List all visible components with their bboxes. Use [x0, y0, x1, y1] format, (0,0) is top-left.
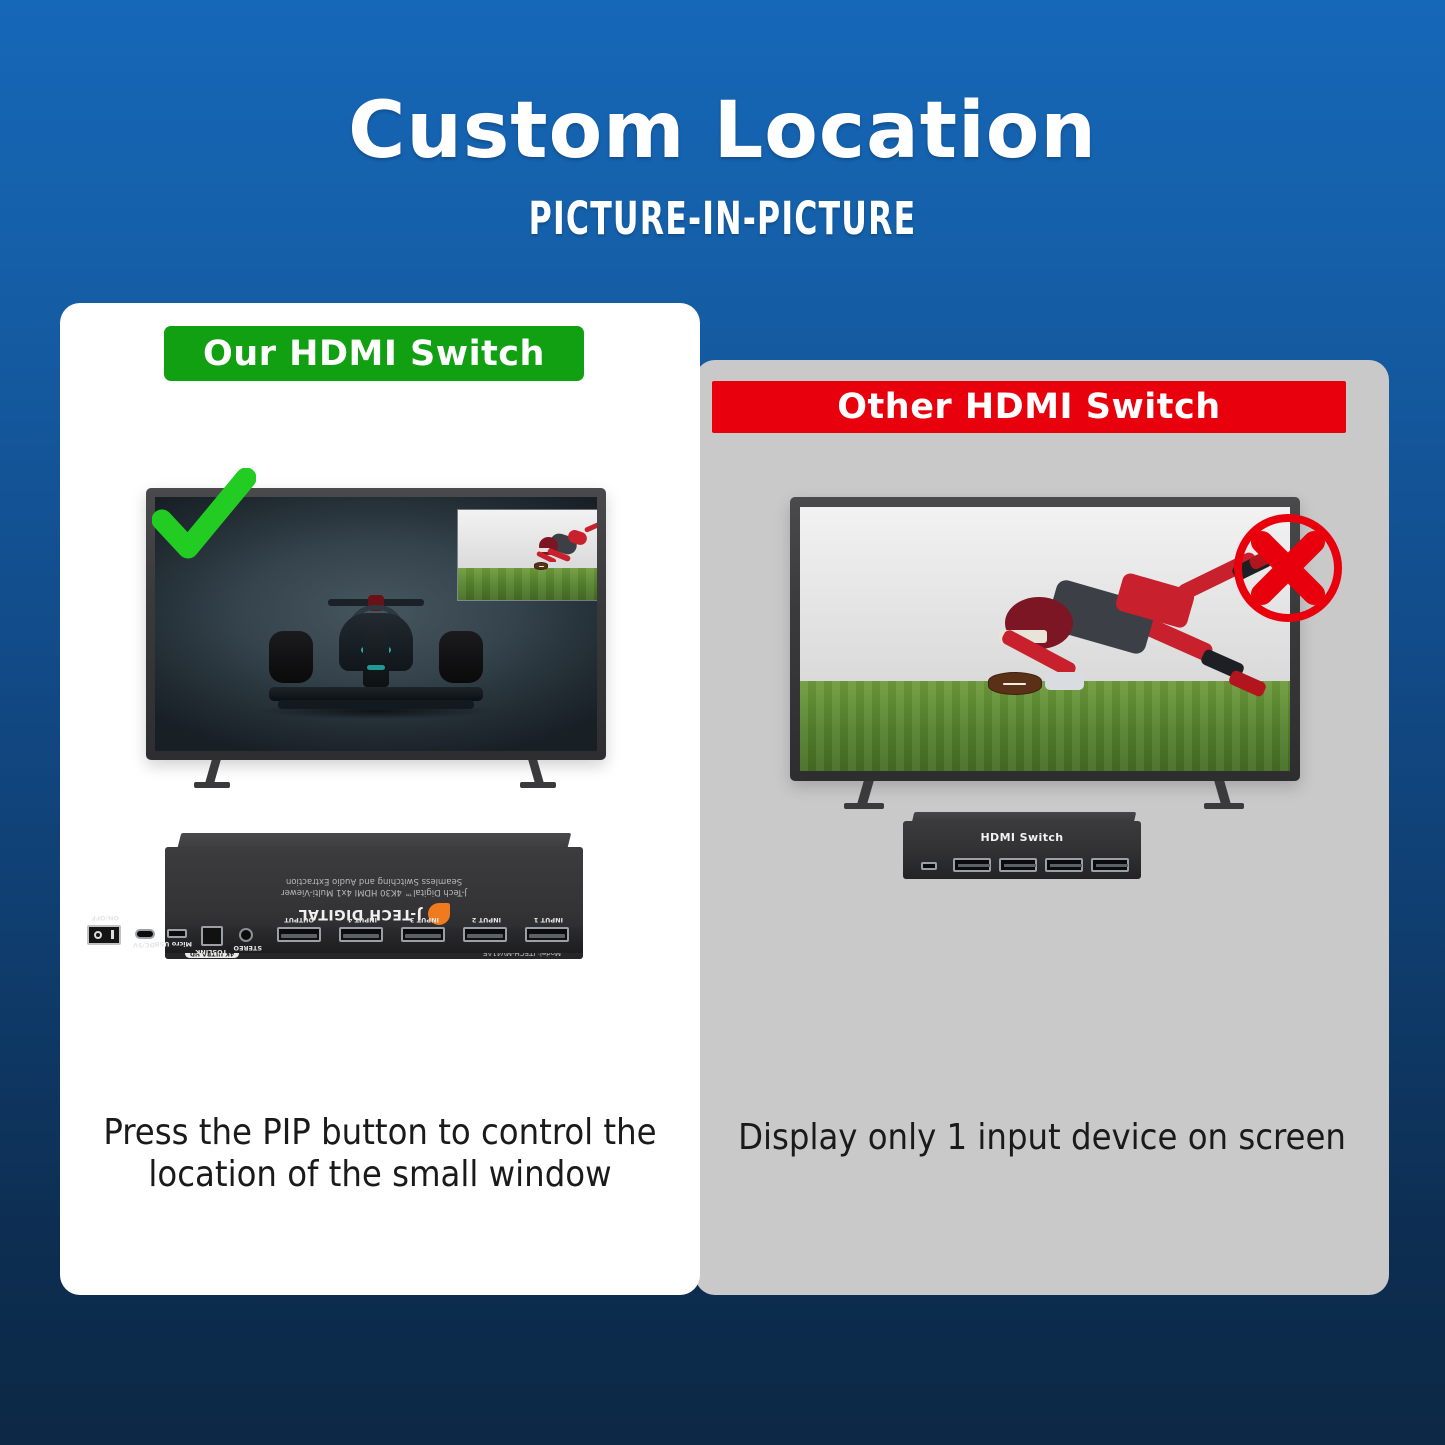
power-switch[interactable] [87, 925, 121, 945]
port-label-dc-5v: DC/5V [133, 941, 155, 949]
badge-other-hdmi-switch: Other HDMI Switch [712, 381, 1346, 433]
caption-ours: Press the PIP button to control the loca… [70, 1112, 690, 1197]
scene-football [458, 510, 597, 600]
port-input-4[interactable] [339, 927, 383, 942]
port-label-micro-usb: Micro USB [155, 940, 192, 948]
port-stereo[interactable] [239, 928, 253, 942]
football-player-icon [526, 521, 597, 580]
port-dc-5v[interactable] [135, 929, 155, 939]
port-hdmi-2[interactable] [999, 858, 1037, 872]
tv-screen-other [800, 507, 1290, 771]
page-header: Custom Location PICTURE-IN-PICTURE [0, 0, 1445, 245]
badge-our-hdmi-switch: Our HDMI Switch [164, 326, 584, 381]
port-hdmi-1[interactable] [953, 858, 991, 872]
port-label-stereo: STEREO [233, 944, 262, 952]
check-mark-icon [152, 468, 256, 564]
device-ports: INPUT 1 INPUT 2 INPUT 3 INPUT 4 OUTPUT S… [165, 913, 583, 957]
device-label: HDMI Switch [903, 831, 1141, 844]
page-title: Custom Location [0, 92, 1445, 170]
tv-leg-right-foot [1204, 803, 1244, 809]
device-our-hdmi-switch: Model: JTECH-MV41AE 4K ULTRA HD J-TECH D… [165, 833, 583, 975]
tv-leg-left-foot [844, 803, 884, 809]
pip-window [457, 509, 597, 601]
port-hdmi-4[interactable] [1091, 858, 1129, 872]
device-ports [903, 853, 1141, 875]
port-label-on-off: ON/OFF [91, 914, 119, 922]
port-label-input-4: INPUT 4 [348, 916, 377, 924]
port-label-output: OUTPUT [284, 916, 314, 924]
caption-other: Display only 1 input device on screen [700, 1116, 1384, 1159]
port-label-input-2: INPUT 2 [472, 916, 501, 924]
tv-leg-right-foot [520, 782, 556, 788]
football-player-icon [976, 555, 1260, 719]
device-other-hdmi-switch: HDMI Switch [903, 812, 1141, 884]
x-mark-icon [1228, 508, 1348, 628]
port-input-2[interactable] [463, 927, 507, 942]
f1-car-icon [261, 595, 491, 715]
caption-ours-line1: Press the PIP button to control the [70, 1112, 690, 1154]
device-front-face: Model: JTECH-MV41AE 4K ULTRA HD J-TECH D… [165, 847, 583, 959]
port-hdmi-3[interactable] [1045, 858, 1083, 872]
port-output[interactable] [277, 927, 321, 942]
device-description: J-Tech Digital™ 4K30 HDMI 4x1 Multi-View… [165, 874, 583, 897]
port-micro-usb[interactable] [921, 862, 937, 870]
port-micro-usb[interactable] [167, 929, 187, 938]
caption-ours-line2: location of the small window [70, 1154, 690, 1196]
page-subtitle: PICTURE-IN-PICTURE [159, 192, 1286, 245]
device-front-face: HDMI Switch [903, 821, 1141, 879]
port-label-input-1: INPUT 1 [534, 916, 563, 924]
device-description-line2: Seamless Switching and Audio Extraction [165, 874, 583, 885]
device-description-line1: J-Tech Digital™ 4K30 HDMI 4x1 Multi-View… [165, 886, 583, 897]
port-input-1[interactable] [525, 927, 569, 942]
port-label-input-3: INPUT 3 [410, 916, 439, 924]
tv-other [790, 497, 1300, 809]
port-toslink[interactable] [201, 926, 223, 946]
port-label-toslink: TOSLINK [195, 948, 227, 956]
scene-football [800, 507, 1290, 771]
caption-other-line1: Display only 1 input device on screen [700, 1116, 1384, 1159]
tv-leg-left-foot [194, 782, 230, 788]
port-input-3[interactable] [401, 927, 445, 942]
